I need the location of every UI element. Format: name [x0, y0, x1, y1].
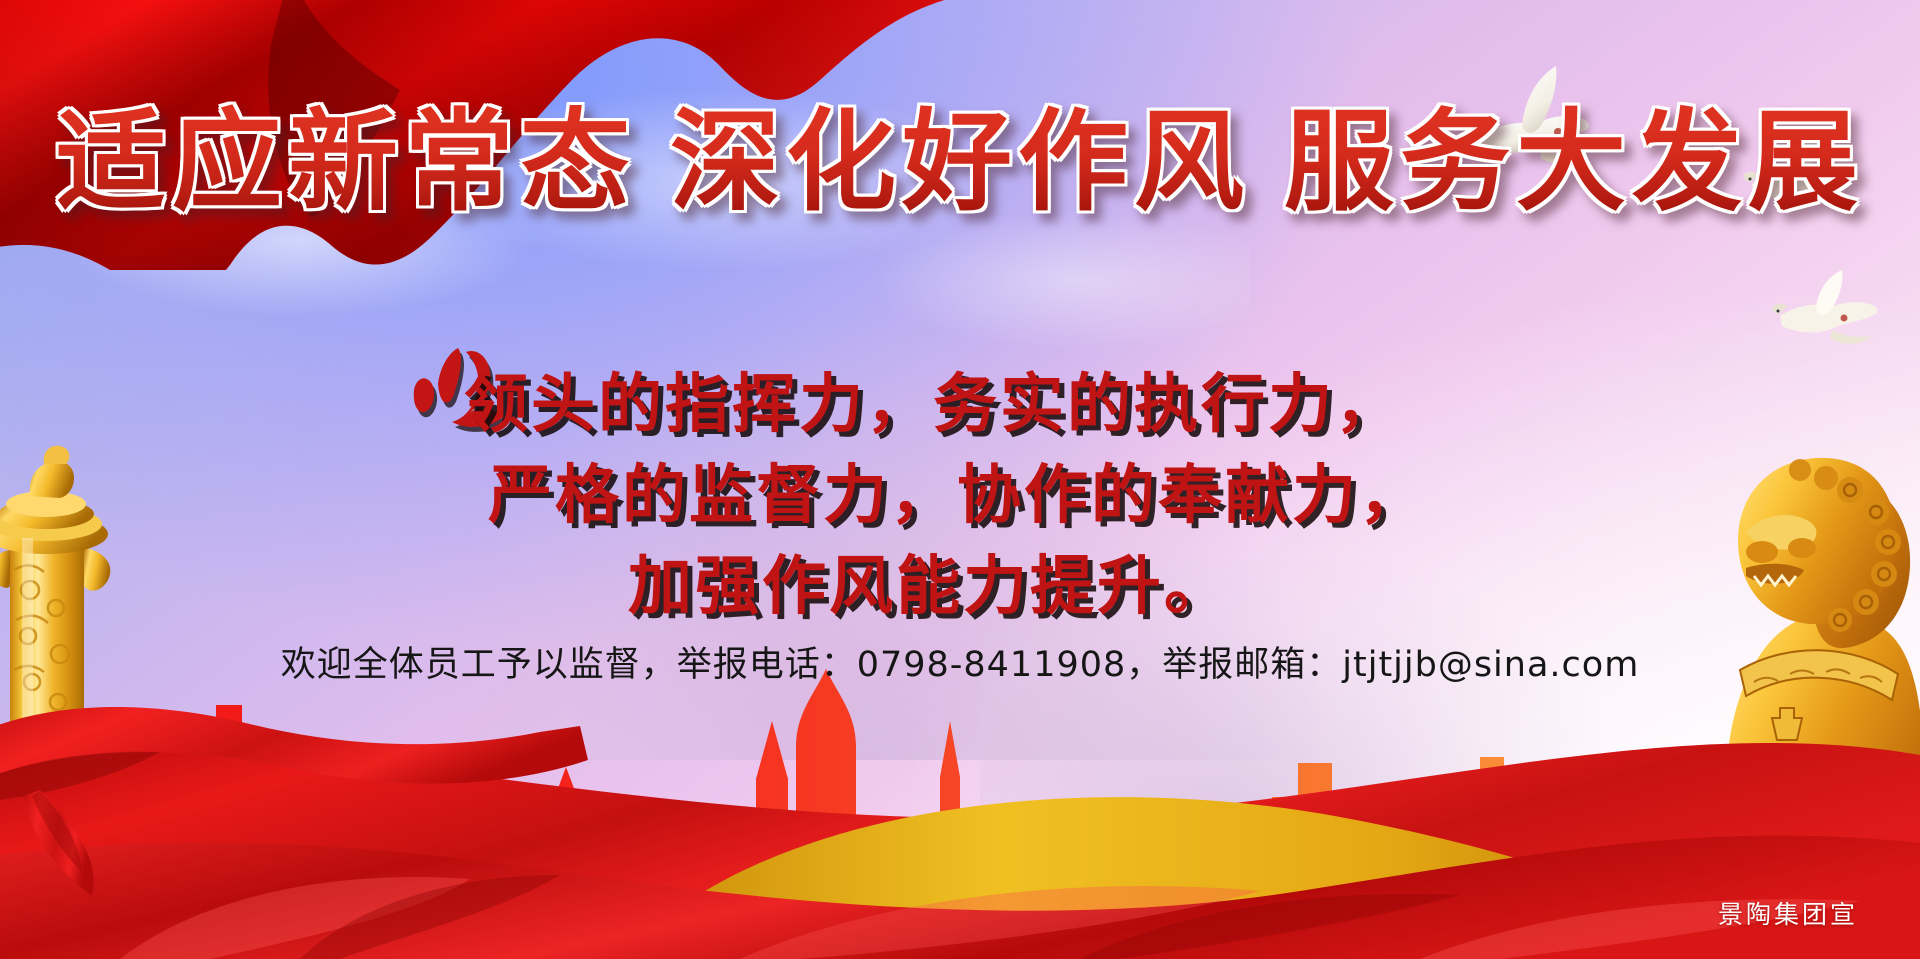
- organization-signature: 景陶集团宣: [1718, 895, 1858, 931]
- slogan-block: 领头的指挥力，务实的执行力， 严格的监督力，协作的奉献力， 加强作风能力提升。: [360, 360, 1590, 633]
- dove-icon: [1772, 268, 1890, 368]
- slogan-line-2: 严格的监督力，协作的奉献力，: [360, 451, 1590, 542]
- page-title: 适应新常态深化好作风服务大发展: [0, 104, 1920, 221]
- headline-part-3: 服务大发展: [1284, 98, 1864, 226]
- huabiao-column: [0, 430, 134, 959]
- headline-part-1: 适应新常态: [56, 98, 636, 226]
- slogan-line-3: 加强作风能力提升。: [360, 542, 1590, 633]
- headline-part-2: 深化好作风: [670, 98, 1250, 226]
- propaganda-poster: 适应新常态深化好作风服务大发展 领头的指挥力，务实的执行力， 严格的监督力，协作…: [0, 0, 1920, 959]
- slogan-line-1: 领头的指挥力，务实的执行力，: [360, 360, 1590, 451]
- supervision-contact-line: 欢迎全体员工予以监督，举报电话：0798-8411908，举报邮箱：jtjtjj…: [0, 636, 1920, 687]
